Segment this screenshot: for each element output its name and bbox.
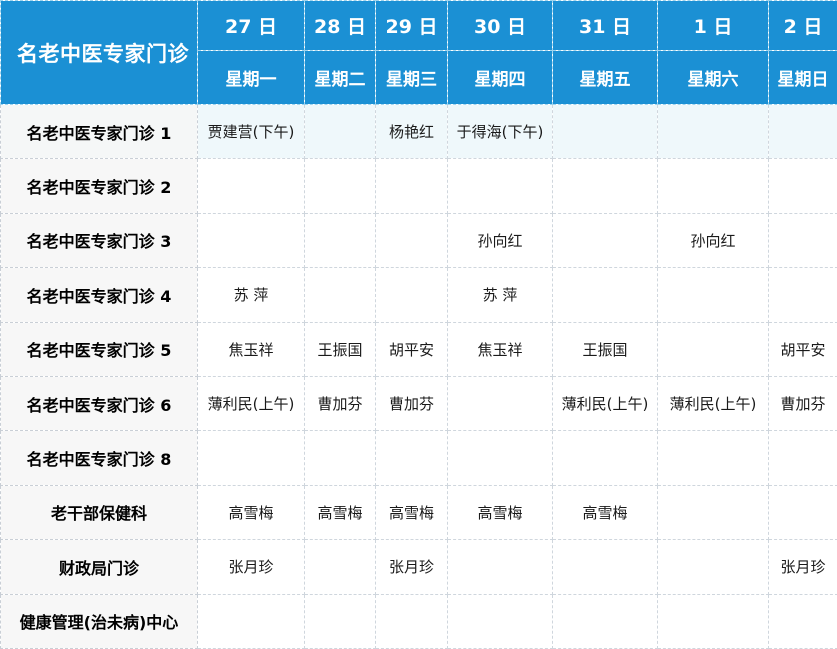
schedule-cell [658,322,769,376]
schedule-cell: 焦玉祥 [198,322,305,376]
schedule-cell [769,594,837,648]
schedule-cell: 焦玉祥 [448,322,553,376]
schedule-cell: 苏 萍 [198,268,305,322]
schedule-cell [658,485,769,539]
row-label: 名老中医专家门诊 6 [1,376,198,430]
schedule-cell: 高雪梅 [553,485,658,539]
schedule-cell [198,159,305,213]
schedule-cell [769,159,837,213]
table-row: 名老中医专家门诊 6薄利民(上午)曹加芬曹加芬薄利民(上午)薄利民(上午)曹加芬 [1,376,837,430]
row-label: 名老中医专家门诊 1 [1,105,198,159]
schedule-cell: 高雪梅 [198,485,305,539]
schedule-cell [448,594,553,648]
schedule-cell [553,540,658,594]
schedule-cell [769,431,837,485]
schedule-cell: 薄利民(上午) [658,376,769,430]
table-row: 财政局门诊张月珍张月珍张月珍 [1,540,837,594]
schedule-cell: 张月珍 [769,540,837,594]
schedule-cell [553,594,658,648]
table-row: 名老中医专家门诊 2 [1,159,837,213]
table-row: 老干部保健科高雪梅高雪梅高雪梅高雪梅高雪梅 [1,485,837,539]
row-label: 名老中医专家门诊 8 [1,431,198,485]
row-label: 名老中医专家门诊 4 [1,268,198,322]
schedule-cell [305,159,376,213]
schedule-cell [376,431,448,485]
schedule-cell: 曹加芬 [769,376,837,430]
schedule-cell: 张月珍 [376,540,448,594]
schedule-cell [305,105,376,159]
clinic-schedule-table: 名老中医专家门诊 27 日 28 日 29 日 30 日 31 日 1 日 2 … [0,0,837,649]
table-row: 健康管理(治未病)中心 [1,594,837,648]
table-row: 名老中医专家门诊 4苏 萍苏 萍 [1,268,837,322]
schedule-cell [769,213,837,267]
schedule-cell [305,213,376,267]
header-date-3: 30 日 [448,1,553,51]
schedule-cell [553,431,658,485]
header-date-2: 29 日 [376,1,448,51]
header-date-row: 名老中医专家门诊 27 日 28 日 29 日 30 日 31 日 1 日 2 … [1,1,837,51]
schedule-cell [198,594,305,648]
row-label: 老干部保健科 [1,485,198,539]
header-weekday-2: 星期三 [376,51,448,105]
schedule-cell [305,540,376,594]
schedule-cell [658,159,769,213]
schedule-cell: 曹加芬 [305,376,376,430]
row-label: 名老中医专家门诊 2 [1,159,198,213]
table-row: 名老中医专家门诊 8 [1,431,837,485]
table-row: 名老中医专家门诊 1贾建营(下午)杨艳红于得海(下午) [1,105,837,159]
table-row: 名老中医专家门诊 5焦玉祥王振国胡平安焦玉祥王振国胡平安 [1,322,837,376]
schedule-cell: 孙向红 [658,213,769,267]
schedule-cell: 贾建营(下午) [198,105,305,159]
header-date-1: 28 日 [305,1,376,51]
table-header: 名老中医专家门诊 27 日 28 日 29 日 30 日 31 日 1 日 2 … [1,1,837,105]
header-date-6: 2 日 [769,1,837,51]
schedule-cell [448,431,553,485]
schedule-cell: 薄利民(上午) [198,376,305,430]
schedule-cell [198,431,305,485]
row-label: 财政局门诊 [1,540,198,594]
schedule-cell: 曹加芬 [376,376,448,430]
schedule-cell: 薄利民(上午) [553,376,658,430]
schedule-cell [305,594,376,648]
header-weekday-1: 星期二 [305,51,376,105]
header-date-0: 27 日 [198,1,305,51]
schedule-cell: 杨艳红 [376,105,448,159]
header-date-4: 31 日 [553,1,658,51]
schedule-cell [376,594,448,648]
schedule-cell: 于得海(下午) [448,105,553,159]
schedule-cell [553,213,658,267]
schedule-cell [769,268,837,322]
schedule-cell: 苏 萍 [448,268,553,322]
row-label: 名老中医专家门诊 5 [1,322,198,376]
schedule-cell [553,159,658,213]
table-row: 名老中医专家门诊 3孙向红孙向红 [1,213,837,267]
schedule-cell [658,431,769,485]
schedule-cell: 孙向红 [448,213,553,267]
schedule-cell [305,268,376,322]
schedule-cell [658,594,769,648]
header-weekday-6: 星期日 [769,51,837,105]
schedule-cell: 高雪梅 [305,485,376,539]
schedule-cell [376,213,448,267]
schedule-cell [769,105,837,159]
schedule-cell: 胡平安 [769,322,837,376]
header-weekday-5: 星期六 [658,51,769,105]
schedule-cell [448,159,553,213]
schedule-cell [448,540,553,594]
table-title: 名老中医专家门诊 [1,1,198,105]
schedule-cell [658,540,769,594]
schedule-cell [553,105,658,159]
row-label: 名老中医专家门诊 3 [1,213,198,267]
schedule-cell: 高雪梅 [448,485,553,539]
schedule-cell: 王振国 [305,322,376,376]
schedule-cell: 高雪梅 [376,485,448,539]
header-weekday-0: 星期一 [198,51,305,105]
schedule-cell: 王振国 [553,322,658,376]
schedule-cell: 张月珍 [198,540,305,594]
schedule-cell [448,376,553,430]
row-label: 健康管理(治未病)中心 [1,594,198,648]
header-weekday-4: 星期五 [553,51,658,105]
schedule-cell [305,431,376,485]
schedule-cell [658,268,769,322]
schedule-cell [658,105,769,159]
schedule-cell: 胡平安 [376,322,448,376]
schedule-cell [769,485,837,539]
schedule-cell [198,213,305,267]
schedule-cell [376,268,448,322]
schedule-cell [553,268,658,322]
schedule-cell [376,159,448,213]
table-body: 名老中医专家门诊 1贾建营(下午)杨艳红于得海(下午)名老中医专家门诊 2名老中… [1,105,837,649]
header-date-5: 1 日 [658,1,769,51]
header-weekday-3: 星期四 [448,51,553,105]
